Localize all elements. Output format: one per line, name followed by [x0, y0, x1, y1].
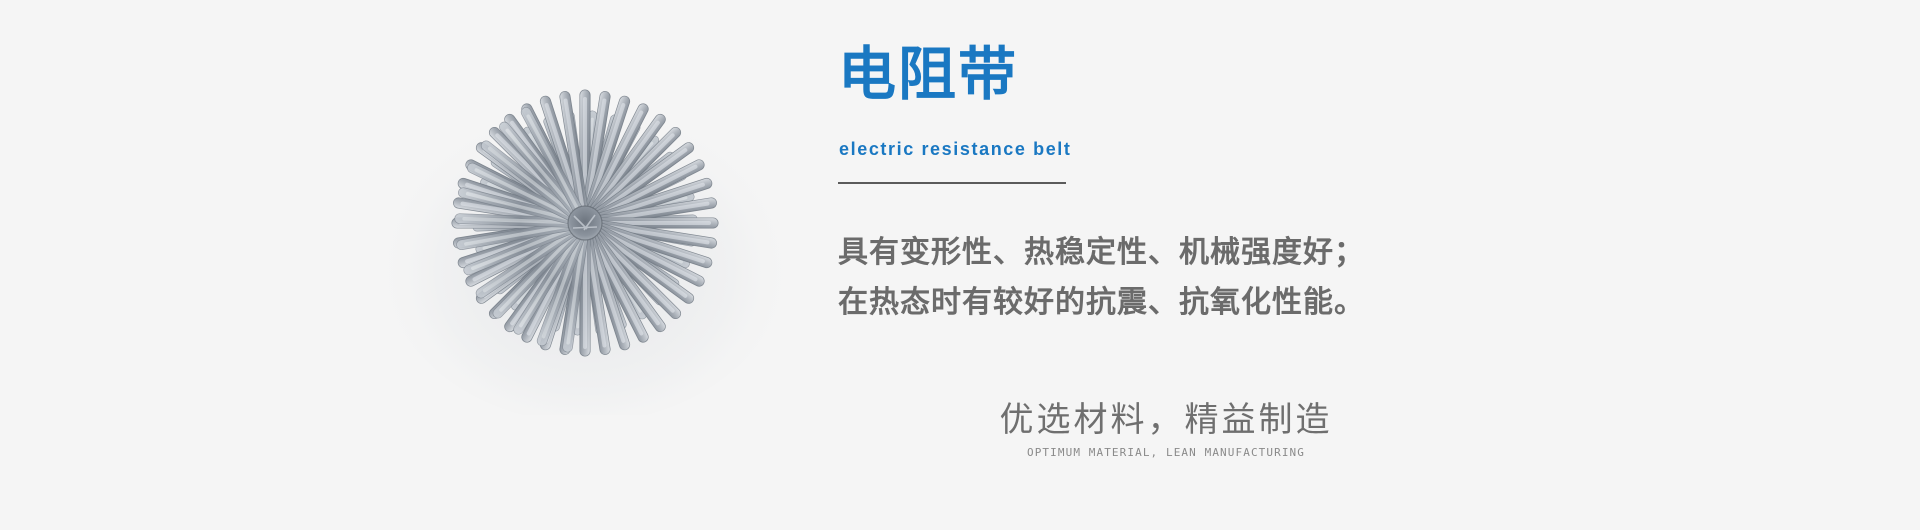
description-line-2: 在热态时有较好的抗震、抗氧化性能。 [838, 278, 1458, 328]
resistance-belt-coil-illustration [370, 55, 800, 415]
product-image [370, 55, 800, 415]
tagline: 优选材料，精益制造 OPTIMUM MATERIAL, LEAN MANUFAC… [956, 398, 1376, 460]
product-description: 具有变形性、热稳定性、机械强度好； 在热态时有较好的抗震、抗氧化性能。 [838, 228, 1458, 328]
description-line-1: 具有变形性、热稳定性、机械强度好； [838, 228, 1458, 278]
starburst-svg [370, 55, 800, 415]
title-divider [838, 182, 1066, 184]
tagline-en: OPTIMUM MATERIAL, LEAN MANUFACTURING [956, 446, 1376, 460]
page-subtitle: electric resistance belt [839, 138, 1072, 160]
tagline-cn: 优选材料，精益制造 [956, 398, 1376, 442]
page-title: 电阻带 [838, 42, 1018, 108]
product-banner: 电阻带 electric resistance belt 具有变形性、热稳定性、… [0, 0, 1920, 530]
text-content: 电阻带 electric resistance belt 具有变形性、热稳定性、… [838, 0, 1838, 530]
